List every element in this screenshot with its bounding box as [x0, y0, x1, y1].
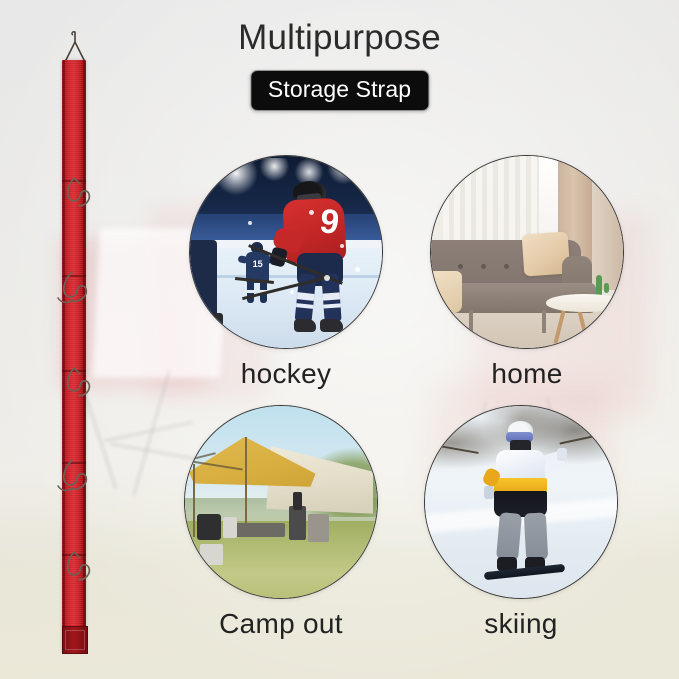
ice-spray — [309, 210, 314, 215]
sofa-foot — [469, 310, 473, 333]
ski-scene — [425, 406, 617, 598]
foreground-player: 9 — [273, 181, 365, 331]
tent-pole — [245, 437, 248, 537]
camp-table — [235, 523, 285, 536]
tile-home[interactable]: home — [430, 155, 624, 390]
ice-spray — [248, 221, 252, 225]
tile-label-hockey: hockey — [189, 358, 383, 390]
s-hook-icon — [54, 176, 94, 222]
camp-gear-box — [308, 514, 329, 543]
player-skate — [294, 319, 316, 332]
s-hook-icon — [50, 270, 90, 316]
left-edge-skate — [190, 313, 223, 326]
camp-bucket — [200, 544, 223, 565]
left-edge-player — [189, 240, 217, 321]
product-marketing-image: Multipurpose Storage Strap — [0, 0, 679, 679]
camp-gear-box — [293, 492, 303, 509]
camp-gear-box — [223, 517, 236, 538]
sofa-foot — [542, 310, 546, 333]
sock-stripe — [297, 292, 314, 300]
rider-glove — [484, 486, 494, 499]
camp-out-image[interactable] — [184, 405, 378, 599]
top-hook-icon — [58, 30, 92, 64]
tent-pole — [193, 464, 196, 537]
coffee-table — [546, 294, 623, 311]
home-scene — [431, 156, 623, 348]
camp-gear-box — [289, 506, 306, 541]
tile-label-skiing: skiing — [424, 608, 618, 640]
sofa-button — [458, 264, 463, 269]
tile-camp-out[interactable]: Camp out — [184, 405, 378, 640]
home-image[interactable] — [430, 155, 624, 349]
sock-stripe — [324, 303, 341, 308]
skiing-image[interactable] — [424, 405, 618, 599]
sock-stripe — [323, 292, 340, 300]
sofa-button — [481, 264, 486, 269]
storage-strap-badge: Storage Strap — [250, 70, 429, 111]
hockey-scene: 15 9 — [190, 156, 382, 348]
camp-scene — [185, 406, 377, 598]
tile-label-camp-out: Camp out — [184, 608, 378, 640]
sock-stripe — [296, 303, 313, 309]
hockey-image[interactable]: 15 9 — [189, 155, 383, 349]
s-hook-icon — [54, 550, 94, 596]
rider-glove — [557, 448, 567, 461]
tile-skiing[interactable]: skiing — [424, 405, 618, 640]
tile-label-home: home — [430, 358, 624, 390]
beige-curtain-2 — [592, 156, 623, 290]
camp-chair — [197, 514, 222, 541]
snowboarder — [483, 421, 567, 578]
s-hook-icon — [50, 458, 90, 504]
throw-blanket — [430, 271, 462, 313]
storage-strap-product — [40, 30, 120, 660]
cactus-arm — [604, 283, 609, 293]
rider-pants — [496, 512, 522, 561]
rider-pants — [524, 512, 548, 560]
tile-hockey[interactable]: 15 9 — [189, 155, 383, 390]
player-leg — [247, 280, 253, 303]
sofa-button — [504, 264, 509, 269]
sock-stripe — [247, 290, 253, 294]
strap-end-stitch — [65, 630, 85, 650]
s-hook-icon — [54, 366, 94, 412]
player-skate — [320, 319, 342, 332]
player-number: 15 — [246, 259, 269, 269]
rider-jacket-white — [496, 450, 545, 481]
